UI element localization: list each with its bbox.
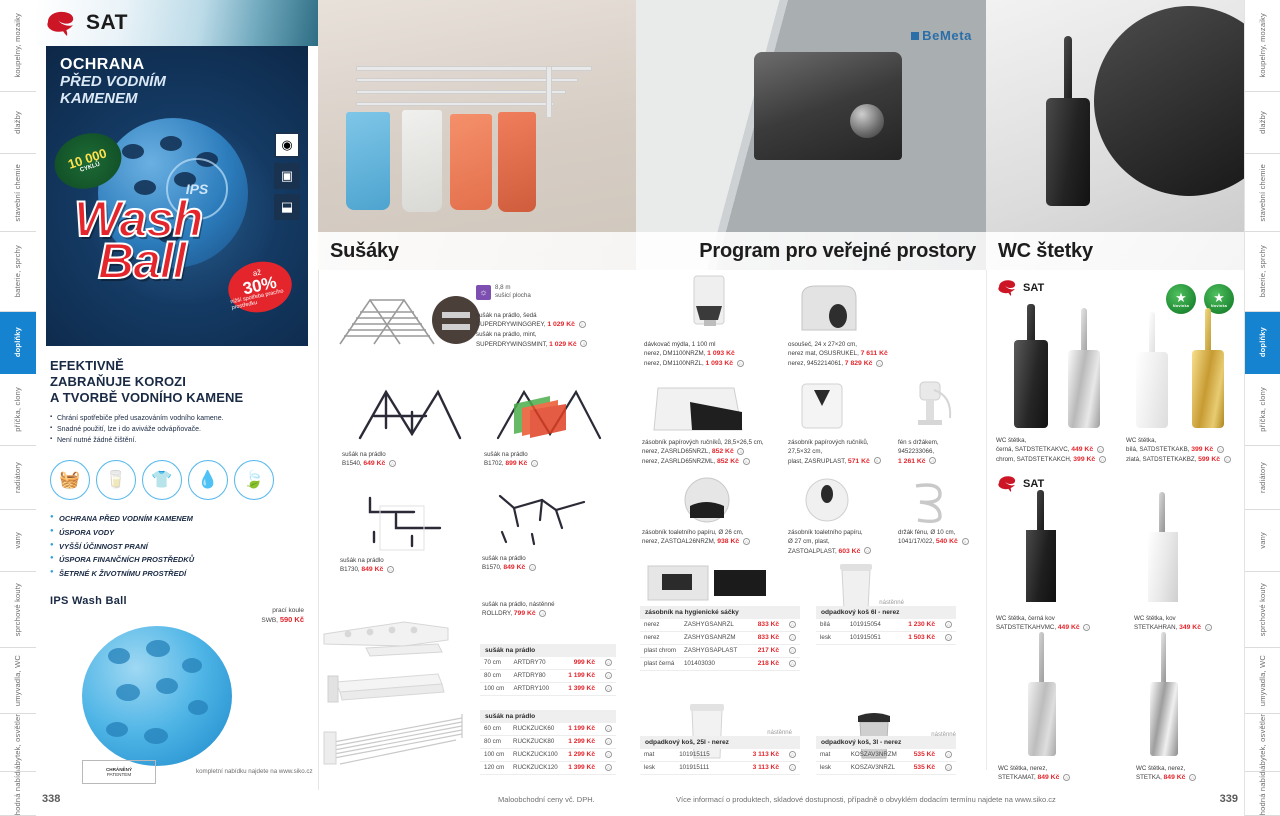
effect-title-3: A TVORBĚ VODNÍHO KAMENE [50, 390, 304, 406]
table-row[interactable]: 60 cm RUCKZUCK60 1 199 Kč ⌂ [480, 723, 616, 735]
cart-icon[interactable]: ⌂ [962, 538, 969, 545]
product-code: B1570, [482, 564, 502, 571]
page-title-susaky: Sušáky [330, 240, 399, 263]
eco-leaf-icon: 🍃 [234, 460, 274, 500]
sidebar-item-baterie-sprchy-right[interactable]: baterie, sprchy [1245, 232, 1280, 312]
dryer-nozzle [850, 104, 884, 138]
product-code: nerez, ZASRLD65NRZML, [642, 458, 715, 465]
tab-label: stavební chemie [1259, 164, 1267, 222]
hanging-cloth-white [402, 110, 442, 212]
product-line: WC štětka, kov [1134, 614, 1244, 623]
table-row[interactable]: bílá 101915054 1 230 Kč ⌂ [816, 619, 956, 631]
product-line: sušák na prádlo, mint, [476, 330, 626, 339]
tab-label: radiátory [1259, 462, 1267, 493]
product-text-b1570: sušák na prádlo B1570, 849 Kč ⌂ [482, 554, 536, 573]
product-code: nerez, DM1100NRZL, [644, 360, 704, 367]
product-price: 449 Kč [1058, 624, 1080, 631]
promo-body: EFEKTIVNĚ ZABRAŇUJE KOROZI A TVORBĚ VODN… [36, 346, 318, 607]
cart-icon[interactable]: ⌂ [605, 672, 612, 679]
cell-code: 101915115 [675, 749, 744, 761]
cell-code: RUCKZUCK100 [509, 748, 564, 761]
product-price: 449 Kč [1071, 446, 1093, 453]
hero-line-3: KAMENEM [60, 91, 166, 108]
money-icon: 💧 [188, 460, 228, 500]
program-caption-bar: Program pro veřejné prostory [636, 232, 986, 270]
table-ruckzuck-wrapper: sušák na prádlo 60 cm RUCKZUCK60 1 199 K… [480, 710, 616, 775]
product-line: sušák na prádlo [340, 556, 394, 565]
product-price: 649 Kč [363, 460, 385, 467]
product-price: 603 Kč [838, 548, 860, 555]
table-caption: zásobník na hygienické sáčky [640, 606, 800, 619]
cart-icon[interactable]: ⌂ [531, 460, 538, 467]
tab-label: doplňky [14, 327, 22, 357]
wc-block-square: SAT WC štětka, černá kov SATDSTETKAHVMC,… [986, 466, 1244, 493]
product-line: WC štětka, [996, 436, 1124, 445]
cart-icon[interactable]: ⌂ [945, 751, 952, 758]
product-code: 9452233066, [898, 447, 984, 456]
product-price: 1 093 Kč [707, 350, 735, 357]
brush-render-steel-gloss [1150, 632, 1178, 756]
hero-line-1: OCHRANA [60, 56, 166, 74]
product-code: černá, SATDSTETKAKVC, [996, 446, 1069, 453]
product-price: 7 611 Kč [861, 350, 888, 357]
cell-price: 1 199 Kč [564, 723, 599, 735]
product-text-toilet-paper-steel: zásobník toaletního papíru, Ø 26 cm, ner… [642, 528, 792, 547]
table-row[interactable]: mat KOSZAV3NRZM 535 Kč ⌂ [816, 749, 956, 761]
cell-size: mat [816, 749, 847, 761]
table-artdry-wrapper: sušák na prádlo 70 cm ARTDRY70 999 Kč ⌂ … [480, 644, 616, 696]
product-code: B1540, [342, 460, 362, 467]
benefit-item: ÚSPORA FINANČNÍCH PROSTŘEDKŮ [50, 553, 304, 567]
sidebar-item-pricka-clony[interactable]: příčka, clony [0, 374, 36, 446]
susaky-column: ☼ 8,8 m sušicí plocha sušák na prádlo, š… [318, 270, 636, 780]
table-bin25l-wrapper: odpadkový koš, 25l - nerez mat 101915115… [640, 736, 800, 775]
product-code: 1041/17/022, [898, 538, 934, 545]
cell-price: 1 299 Kč [564, 748, 599, 761]
benefit-item: VYŠŠÍ ÚČINNOST PRANÍ [50, 540, 304, 554]
table-row[interactable]: plast chrom ZASHYGSAPLAST 217 Kč ⌂ [640, 644, 800, 657]
cart-icon[interactable]: ⌂ [789, 647, 796, 654]
cart-icon[interactable]: ⌂ [1097, 446, 1104, 453]
brush-render-steel-mat [1028, 632, 1056, 756]
page-number-left: 338 [42, 793, 60, 805]
product-line: sušák na prádlo, nástěnné [482, 600, 555, 609]
cell-price: 1 199 Kč [564, 669, 599, 682]
sidebar-item-nabytek-osvetleni[interactable]: nábytek, osvětlení [0, 714, 36, 772]
cart-icon[interactable]: ⌂ [737, 448, 744, 455]
promo-effect-title: EFEKTIVNĚ ZABRAŇUJE KOROZI A TVORBĚ VODN… [50, 358, 304, 406]
cell-size: 80 cm [480, 735, 509, 748]
product-image-artdry [318, 664, 468, 708]
cart-icon[interactable]: ⌂ [1205, 624, 1212, 631]
cart-icon[interactable]: ⌂ [605, 685, 612, 692]
product-text-paper-towel-steel: zásobník papírových ručníků, 28,5×26,5 c… [642, 438, 794, 468]
dishwasher-usage-icon: ▣ [274, 163, 300, 189]
hanging-cloth-orange [450, 114, 492, 210]
tab-label: baterie, sprchy [14, 245, 22, 297]
cell-size: plast chrom [640, 644, 680, 657]
product-image-superdrywing [330, 286, 480, 356]
cart-icon[interactable]: ⌂ [874, 457, 881, 464]
cell-size: lesk [816, 761, 847, 774]
cell-code: ZASHYGSANRZM [680, 631, 749, 644]
page-number-right: 339 [1220, 793, 1238, 805]
product-price: 7 829 Kč [845, 360, 873, 367]
tab-label: nábytek, osvětlení [1259, 714, 1267, 772]
tab-label: sprchové kouty [14, 583, 22, 636]
cell-code: ZASHYGSANRZL [680, 619, 749, 631]
cell-size: 80 cm [480, 669, 510, 682]
product-line: sušák na prádlo [484, 450, 538, 459]
cell-price: 1 399 Kč [564, 682, 599, 695]
product-image-b1702 [484, 382, 614, 444]
product-image-rolldry [318, 610, 468, 660]
cart-icon[interactable]: ⌂ [1083, 624, 1090, 631]
program-photo: BeMeta Program pro veřejné prostory [636, 0, 986, 270]
product-image-hand-dryer [790, 280, 866, 338]
cell-price: 535 Kč [907, 761, 939, 774]
cart-icon[interactable]: ⌂ [945, 634, 952, 641]
table-row[interactable]: 100 cm ARTDRY100 1 399 Kč ⌂ [480, 682, 616, 695]
ball-product-code: SWB, [261, 617, 278, 624]
susaky-photo: Sušáky [318, 0, 636, 270]
cell-price: 1 230 Kč [904, 619, 939, 631]
drying-area-tag: ☼ 8,8 m sušicí plocha [476, 284, 626, 301]
hero-line-2: PŘED VODNÍM [60, 74, 166, 91]
sidebar-item-sprchove-kouty[interactable]: sprchové kouty [0, 572, 36, 648]
promo-advertisement-page: SAT OCHRANA PŘED VODNÍM KAMENEM IPS 10 0… [36, 0, 318, 790]
product-code: STETKAHRAN, [1134, 624, 1177, 631]
product-text-b1702: sušák na prádlo B1702, 899 Kč ⌂ [484, 450, 538, 469]
cart-icon[interactable]: ⌂ [737, 360, 744, 367]
cell-code: ZASHYGSAPLAST [680, 644, 749, 657]
cell-size: nerez [640, 619, 680, 631]
product-text-soap-dispenser: dávkovač mýdla, 1 100 ml nerez, DM1100NR… [644, 340, 784, 370]
cart-icon[interactable]: ⌂ [605, 725, 612, 732]
left-tab-rail: koupelny, mozaiky dlažby stavební chemie… [0, 0, 36, 816]
table-row[interactable]: lesk KOSZAV3NRZL 535 Kč ⌂ [816, 761, 956, 774]
tab-label: stavební chemie [14, 164, 22, 222]
cart-icon[interactable]: ⌂ [864, 547, 871, 554]
tab-label: umyvadla, WC [14, 655, 22, 706]
cart-icon[interactable]: ⌂ [945, 621, 952, 628]
brush-render-white-square [1148, 492, 1178, 602]
tab-label: dlažby [1259, 111, 1267, 134]
product-price: 799 Kč [514, 610, 536, 617]
table-row[interactable]: 80 cm RUCKZUCK80 1 299 Kč ⌂ [480, 735, 616, 748]
discount-badge: až 30% nižší spotřeba pracího prostředku [224, 256, 297, 318]
product-price: 899 Kč [505, 460, 527, 467]
cart-icon[interactable]: ⌂ [789, 764, 796, 771]
cart-icon[interactable]: ⌂ [876, 360, 883, 367]
product-code: nerez, 9452214061, [788, 360, 843, 367]
table-row[interactable]: lesk 101915051 1 503 Kč ⌂ [816, 631, 956, 644]
cell-code: 101915054 [846, 619, 904, 631]
cell-code: RUCKZUCK80 [509, 735, 564, 748]
sidebar-item-nabytek-osvetleni-right[interactable]: nábytek, osvětlení [1245, 714, 1280, 772]
product-text-brush-black-chrome: WC štětka, černá, SATDSTETKAKVC, 449 Kč … [996, 436, 1124, 466]
tab-label: baterie, sprchy [1259, 245, 1267, 297]
product-price: 599 Kč [1198, 456, 1220, 463]
product-superdrywing: ☼ 8,8 m sušicí plocha sušák na prádlo, š… [476, 284, 626, 350]
benefit-icon-row: 🧺 🥛 👕 💧 🍃 [50, 460, 304, 500]
product-line: osoušeč, 24 x 27×20 cm, [788, 340, 938, 349]
product-price: 938 Kč [717, 538, 739, 545]
product-text-brush-white-gold: WC štětka, bílá, SATDSTETKAKB, 399 Kč ⌂ … [1126, 436, 1244, 466]
bemeta-square-icon [911, 32, 919, 40]
cell-size: mat [640, 749, 675, 761]
product-price: 1 029 Kč [549, 341, 577, 348]
cart-icon[interactable]: ⌂ [1217, 446, 1224, 453]
brush-render-gold-round [1192, 308, 1224, 428]
product-line: zásobník papírových ručníků, 28,5×26,5 c… [642, 438, 794, 447]
product-line: Ø 27 cm, plast, [788, 537, 898, 546]
cart-icon[interactable]: ⌂ [789, 751, 796, 758]
cart-icon[interactable]: ⌂ [529, 564, 536, 571]
sidebar-item-umyvadla-wc-right[interactable]: umyvadla, WC [1245, 648, 1280, 714]
product-image-paper-towel-steel [650, 382, 750, 436]
product-price: 1 093 Kč [705, 360, 733, 367]
product-code: ZASTOALPLAST, [788, 548, 837, 555]
product-code: plast, ZASRUPLAST, [788, 458, 846, 465]
usage-icons-group: ◉ ▣ ⬓ [274, 132, 300, 220]
product-price: 1 261 Kč [898, 458, 926, 465]
washball-title-ball: Ball [98, 232, 186, 290]
cart-icon[interactable]: ⌂ [789, 634, 796, 641]
cart-icon[interactable]: ⌂ [605, 738, 612, 745]
product-line: sušák na prádlo, šedá [476, 311, 626, 320]
product-price: 540 Kč [936, 538, 958, 545]
cart-icon[interactable]: ⌂ [945, 764, 952, 771]
sidebar-item-sprchove-kouty-right[interactable]: sprchové kouty [1245, 572, 1280, 648]
cell-size: lesk [816, 631, 846, 644]
product-image-hairdryer [900, 380, 958, 438]
wc-brush-photo-object [1046, 36, 1090, 206]
sidebar-item-dlazby-right[interactable]: dlažby [1245, 92, 1280, 154]
product-code: nerez, ZASTOAL26NRZM, [642, 538, 715, 545]
cart-icon[interactable]: ⌂ [539, 610, 546, 617]
product-price: 852 Kč [712, 448, 734, 455]
cart-icon[interactable]: ⌂ [605, 751, 612, 758]
cell-code: ARTDRY80 [510, 669, 565, 682]
cart-icon[interactable]: ⌂ [389, 460, 396, 467]
product-image-b1540 [342, 382, 472, 444]
sidebar-item-koupelny-mozaiky-right[interactable]: koupelny, mozaiky [1245, 0, 1280, 92]
table-row[interactable]: nerez ZASHYGSANRZL 833 Kč ⌂ [640, 619, 800, 631]
brush-render-black-round [1014, 304, 1048, 428]
tab-label: dlažby [14, 111, 22, 134]
cart-icon[interactable]: ⌂ [580, 340, 587, 347]
toilet-usage-icon: ⬓ [274, 194, 300, 220]
star-icon: ★ [1175, 291, 1187, 304]
cart-icon[interactable]: ⌂ [789, 621, 796, 628]
cell-price: 217 Kč [749, 644, 783, 657]
product-line: dávkovač mýdla, 1 100 ml [644, 340, 784, 349]
product-code: chrom, SATDSTETKAKCH, [996, 456, 1072, 463]
benefit-item: ÚSPORA VODY [50, 526, 304, 540]
cell-price: 535 Kč [907, 749, 939, 761]
effect-point: Chrání spotřebiče před usazováním vodníh… [50, 414, 304, 425]
tab-label: příčka, clony [14, 387, 22, 432]
sat-wordmark: SAT [86, 11, 128, 35]
sat-logo-icon [44, 8, 78, 38]
hanging-cloth-red [498, 112, 536, 212]
sidebar-item-vany-right[interactable]: vany [1245, 510, 1280, 572]
product-line: sušák na prádlo [482, 554, 536, 563]
cart-icon[interactable]: ⌂ [929, 457, 936, 464]
wc-column: SAT ★ Novinka ★ Novinka [986, 270, 1244, 780]
table-bin-3l: odpadkový koš, 3l - nerez mat KOSZAV3NRZ… [816, 736, 956, 775]
cell-code: ARTDRY70 [510, 657, 565, 669]
product-code: B1730, [340, 566, 360, 573]
product-text-paper-towel-plastic: zásobník papírových ručníků, 27,5×32 cm,… [788, 438, 898, 467]
promo-footnote: kompletní nabídku najdete na www.siko.cz [196, 768, 313, 775]
effect-title-2: ZABRAŇUJE KOROZI [50, 374, 304, 390]
tab-label: vany [1259, 532, 1267, 549]
product-text-b1730: sušák na prádlo B1730, 849 Kč ⌂ [340, 556, 394, 575]
cart-icon[interactable]: ⌂ [743, 538, 750, 545]
table-row[interactable]: 80 cm ARTDRY80 1 199 Kč ⌂ [480, 669, 616, 682]
sidebar-item-pricka-clony-right[interactable]: příčka, clony [1245, 374, 1280, 446]
cell-size: bílá [816, 619, 846, 631]
wc-block-steel: WC štětka, nerez, STETKAMAT, 849 Kč ⌂ WC… [986, 632, 1244, 640]
product-code: SUPERDRYWINGSMINT, [476, 341, 547, 348]
cell-code: 101915111 [675, 761, 744, 774]
tab-label: vany [14, 532, 22, 549]
product-line: WC štětka, [1126, 436, 1244, 445]
sidebar-item-vany[interactable]: vany [0, 510, 36, 572]
washball-price-block: prací koule SWB, 590 Kč [261, 606, 304, 626]
product-image-hygiene-bag-holder [644, 560, 774, 604]
product-code: nerez, ZASRLD65NRZL, [642, 448, 710, 455]
page-title-wc: WC štetky [998, 240, 1093, 263]
product-text-hand-dryer: osoušeč, 24 x 27×20 cm, nerez mat, OSUSR… [788, 340, 938, 370]
cart-icon[interactable]: ⌂ [605, 659, 612, 666]
section-photo-band: Sušáky BeMeta Program pro veřejné prosto… [318, 0, 1244, 270]
table-row[interactable]: nerez ZASHYGSANRZM 833 Kč ⌂ [640, 631, 800, 644]
table-row[interactable]: plast černá 101403030 218 Kč ⌂ [640, 657, 800, 670]
program-column: dávkovač mýdla, 1 100 ml nerez, DM1100NR… [636, 270, 986, 780]
mirror-photo-object [1094, 6, 1244, 196]
product-text-toilet-paper-plastic: zásobník toaletního papíru, Ø 27 cm, pla… [788, 528, 898, 557]
cart-icon[interactable]: ⌂ [743, 458, 750, 465]
table-susak-ruckzuck: sušák na prádlo 60 cm RUCKZUCK60 1 199 K… [480, 710, 616, 775]
susaky-caption-bar: Sušáky [318, 232, 636, 270]
table-row[interactable]: 120 cm RUCKZUCK120 1 399 Kč ⌂ [480, 761, 616, 774]
product-line: zásobník papírových ručníků, [788, 438, 898, 447]
patent-line-2: PATENTEM [107, 772, 131, 777]
sidebar-item-stavebni-chemie-right[interactable]: stavební chemie [1245, 154, 1280, 232]
cell-code: RUCKZUCK120 [509, 761, 564, 774]
cart-icon[interactable]: ⌂ [1224, 456, 1231, 463]
product-line: WC štětka, nerez, [998, 764, 1118, 773]
product-code: SUPERDRYWINGGREY, [476, 321, 546, 328]
product-price: 571 Kč [848, 458, 870, 465]
catalog-spread: koupelny, mozaiky dlažby stavební chemie… [0, 0, 1280, 816]
sidebar-item-koupelny-mozaiky[interactable]: koupelny, mozaiky [0, 0, 36, 92]
cart-icon[interactable]: ⌂ [579, 321, 586, 328]
cell-price: 833 Kč [749, 619, 783, 631]
product-code: zlatá, SATDSTETKAKBZ, [1126, 456, 1196, 463]
cell-price: 3 113 Kč [744, 761, 783, 774]
page-title-program: Program pro veřejné prostory [699, 240, 976, 263]
tab-label: sprchové kouty [1259, 583, 1267, 636]
tshirt-icon: 👕 [142, 460, 182, 500]
brush-holder [1046, 98, 1090, 206]
cell-code: 101915051 [846, 631, 904, 644]
table-caption: odpadkový koš, 25l - nerez [640, 736, 800, 749]
product-image-paper-towel-plastic [792, 380, 852, 436]
ball-product-price: 590 Kč [280, 615, 304, 624]
cart-icon[interactable]: ⌂ [387, 566, 394, 573]
benefit-item: ŠETRNÉ K ŽIVOTNÍMU PROSTŘEDÍ [50, 567, 304, 581]
tab-label: příčka, clony [1259, 387, 1267, 432]
sidebar-item-radiatory[interactable]: radiátory [0, 446, 36, 510]
product-price: 849 Kč [361, 566, 383, 573]
effect-point: Snadné použití, lze i do aviváže odvápňo… [50, 425, 304, 436]
effect-point: Není nutné žádné čištění. [50, 436, 304, 447]
sat-wordmark: SAT [1023, 282, 1044, 294]
table-row[interactable]: 70 cm ARTDRY70 999 Kč ⌂ [480, 657, 616, 669]
product-code: nerez mat, OSUSRUKEL, [788, 350, 859, 357]
table-bin6l-wrapper: odpadkový koš 6l - nerez bílá 101915054 … [816, 606, 956, 645]
promo-hero-headline: OCHRANA PŘED VODNÍM KAMENEM [60, 56, 166, 108]
table-row[interactable]: lesk 101915111 3 113 Kč ⌂ [640, 761, 800, 774]
table-caption: odpadkový koš, 3l - nerez [816, 736, 956, 749]
sidebar-item-doplnky[interactable]: doplňky [0, 312, 36, 374]
sidebar-item-radiatory-right[interactable]: radiátory [1245, 446, 1280, 510]
cell-size: lesk [640, 761, 675, 774]
sidebar-item-stavebni-chemie[interactable]: stavební chemie [0, 154, 36, 232]
cell-code: ARTDRY100 [510, 682, 565, 695]
table-hygiene-wrapper: zásobník na hygienické sáčky nerez ZASHY… [640, 606, 800, 671]
sat-logo-wc-1: SAT [996, 278, 1234, 297]
cell-code: KOSZAV3NRZM [847, 749, 907, 761]
sidebar-item-doplnky-right[interactable]: doplňky [1245, 312, 1280, 374]
sidebar-item-baterie-sprchy[interactable]: baterie, sprchy [0, 232, 36, 312]
sidebar-item-umyvadla-wc[interactable]: umyvadla, WC [0, 648, 36, 714]
cell-size: 100 cm [480, 682, 510, 695]
hand-dryer-photo-object [754, 52, 902, 160]
footer-note-prices: Maloobchodní ceny vč. DPH. [498, 795, 595, 804]
table-bin-25l: odpadkový koš, 25l - nerez mat 101915115… [640, 736, 800, 775]
product-text-hairdryer: fén s držákem, 9452233066, 1 261 Kč ⌂ [898, 438, 984, 467]
cart-icon[interactable]: ⌂ [1099, 456, 1106, 463]
product-text-hairdryer-holder: držák fénu, Ø 10 cm, 1041/17/022, 540 Kč… [898, 528, 986, 547]
product-line: zásobník toaletního papíru, Ø 26 cm, [642, 528, 792, 537]
cart-icon[interactable]: ⌂ [605, 764, 612, 771]
cell-code: 101403030 [680, 657, 749, 670]
product-price: 849 Kč [503, 564, 525, 571]
product-image-b1570 [482, 486, 612, 552]
cart-icon[interactable]: ⌂ [789, 660, 796, 667]
product-image-b1730 [340, 488, 470, 554]
product-line: zásobník toaletního papíru, [788, 528, 898, 537]
bemeta-wordmark: BeMeta [922, 28, 972, 43]
product-image-soap-dispenser [674, 274, 744, 338]
table-row[interactable]: 100 cm RUCKZUCK100 1 299 Kč ⌂ [480, 748, 616, 761]
cell-code: KOSZAV3NRZL [847, 761, 907, 774]
table-caption: odpadkový koš 6l - nerez [816, 606, 956, 619]
product-line: WC štětka, nerez, [1136, 764, 1246, 773]
tab-label: nábytek, osvětlení [14, 714, 22, 772]
table-row[interactable]: mat 101915115 3 113 Kč ⌂ [640, 749, 800, 761]
product-code: ROLLDRY, [482, 610, 512, 617]
wc-caption-bar: WC štetky [986, 232, 1244, 270]
brush-handle [1064, 36, 1072, 106]
product-code: nerez, DM1100NRZM, [644, 350, 705, 357]
sidebar-item-dlazby[interactable]: dlažby [0, 92, 36, 154]
